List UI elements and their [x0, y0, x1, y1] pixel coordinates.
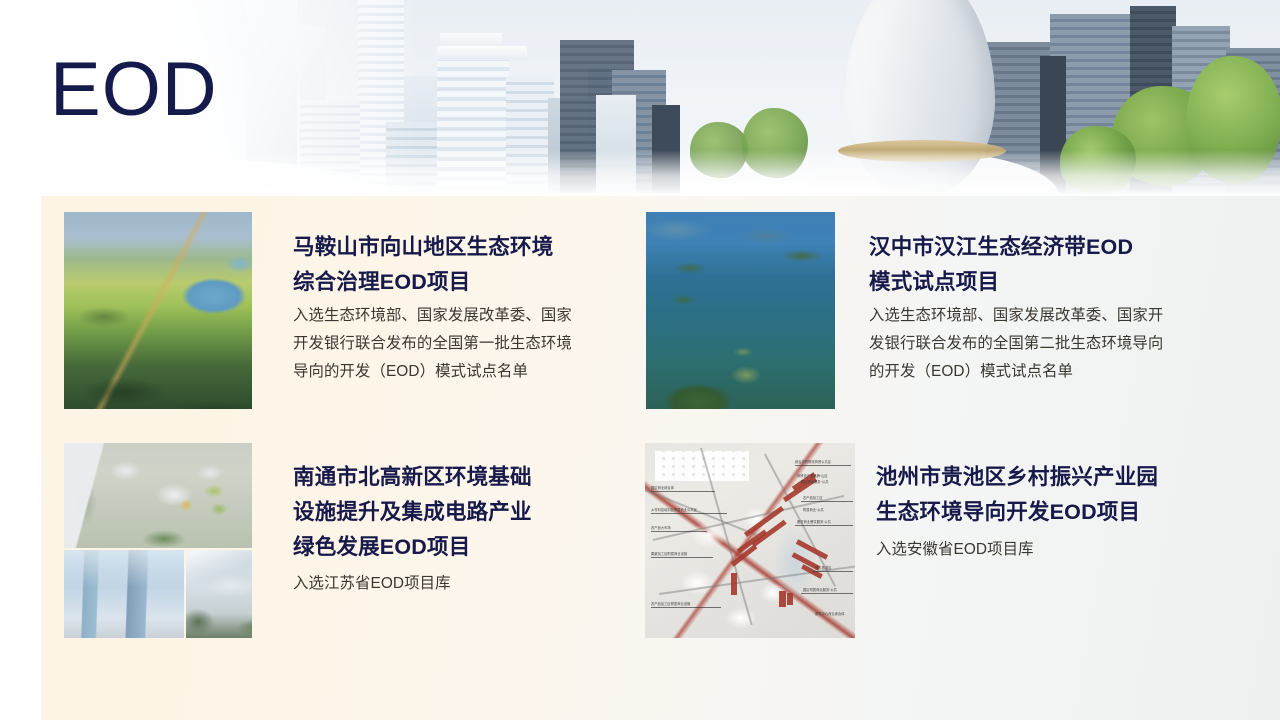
map-leader-line — [801, 501, 853, 502]
map-leader-line — [801, 593, 853, 594]
map-label: 服务商业餐饮服务·公共 — [797, 519, 831, 524]
page-title: EOD — [50, 52, 218, 128]
body-line: 入选生态环境部、国家发展改革委、国家 — [293, 302, 643, 330]
map-label: 综合农贸物流商贸公共区 — [795, 459, 831, 464]
card-text-hanzhong: 汉中市汉江生态经济带EOD 模式试点项目 入选生态环境部、国家发展改革委、国家开… — [869, 230, 1241, 386]
body-line: 入选安徽省EOD项目库 — [876, 536, 1242, 564]
card-heading: 南通市北高新区环境基础 设施提升及集成电路产业 绿色发展EOD项目 — [293, 460, 643, 564]
body-line: 入选生态环境部、国家发展改革委、国家开 — [869, 302, 1241, 330]
body-line: 导向的开发（EOD）模式试点名单 — [293, 358, 643, 386]
map-label: 附属商业·公共 — [803, 507, 824, 512]
heading-line: 南通市北高新区环境基础 — [293, 460, 643, 495]
map-label: 园区附属商业服务·公共 — [803, 587, 837, 592]
industrial-campus-aerial-photo — [64, 443, 252, 548]
card-heading: 汉中市汉江生态经济带EOD 模式试点项目 — [869, 230, 1241, 300]
heading-line: 生态环境导向开发EOD项目 — [876, 495, 1242, 530]
office-building-photo — [186, 550, 252, 638]
body-line: 入选江苏省EOD项目库 — [293, 570, 643, 598]
planning-zoning-map: 园区商业综合体 乡村科技培训区附属商业公共区 农产品大市场 果蔬加工区附属商业设… — [645, 443, 855, 638]
card-text-nantong: 南通市北高新区环境基础 设施提升及集成电路产业 绿色发展EOD项目 入选江苏省E… — [293, 460, 643, 599]
heading-line: 马鞍山市向山地区生态环境 — [293, 230, 643, 265]
body-line: 发银行联合发布的全国第二批生态环境导向 — [869, 330, 1241, 358]
map-built-cluster — [731, 573, 737, 595]
lake-islands-aerial-photo — [646, 212, 835, 409]
glass-towers-photo — [64, 550, 184, 638]
map-label: 乡村科技培训区附属商业公共区 — [651, 507, 697, 512]
map-label: 农产品加工区附属商业设施 — [651, 601, 690, 606]
map-leader-line — [651, 607, 721, 608]
card-body: 入选江苏省EOD项目库 — [293, 570, 643, 598]
card-body: 入选安徽省EOD项目库 — [876, 536, 1242, 564]
card-text-maanshan: 马鞍山市向山地区生态环境 综合治理EOD项目 入选生态环境部、国家发展改革委、国… — [293, 230, 643, 386]
map-label: 果蔬加工区附属商业设施 — [651, 551, 687, 556]
map-label: 农产品加工区 — [803, 495, 823, 500]
banner-bottom-fade — [0, 150, 1280, 196]
body-line: 的开发（EOD）模式试点名单 — [869, 358, 1241, 386]
map-label: 农产品大市场 — [651, 525, 671, 530]
card-heading: 马鞍山市向山地区生态环境 综合治理EOD项目 — [293, 230, 643, 300]
map-leader-line — [651, 531, 707, 532]
map-leader-line — [795, 465, 851, 466]
card-text-chizhou: 池州市贵池区乡村振兴产业园 生态环境导向开发EOD项目 入选安徽省EOD项目库 — [876, 460, 1242, 564]
card-heading: 池州市贵池区乡村振兴产业园 生态环境导向开发EOD项目 — [876, 460, 1242, 530]
map-leader-line — [651, 513, 727, 514]
map-leader-line — [795, 525, 853, 526]
heading-line: 池州市贵池区乡村振兴产业园 — [876, 460, 1242, 495]
map-label: 园区商业综合体 — [651, 485, 674, 490]
map-label: 园区商业服务·公共 — [801, 479, 828, 484]
map-built-cluster — [779, 591, 786, 607]
slide-root: EOD 马鞍山市向山地区生态环境 综合治理EOD项目 入选生态环境部、国家发展改… — [0, 0, 1280, 720]
map-label: 服务中心商业综合体 — [815, 611, 845, 616]
heading-line: 设施提升及集成电路产业 — [293, 495, 643, 530]
skyline-building — [437, 46, 527, 60]
map-leader-line — [813, 571, 853, 572]
map-leader-line — [651, 557, 713, 558]
map-label: 国心旅游区 — [815, 565, 831, 570]
heading-line: 模式试点项目 — [869, 265, 1241, 300]
heading-line: 综合治理EOD项目 — [293, 265, 643, 300]
heading-line: 绿色发展EOD项目 — [293, 530, 643, 565]
aerial-green-hills-photo — [64, 212, 252, 409]
heading-line: 汉中市汉江生态经济带EOD — [869, 230, 1241, 265]
map-leader-line — [651, 491, 715, 492]
body-line: 开发银行联合发布的全国第一批生态环境 — [293, 330, 643, 358]
map-label: 商贸农产品品牌·山区 — [797, 473, 828, 478]
card-body: 入选生态环境部、国家发展改革委、国家开 发银行联合发布的全国第二批生态环境导向 … — [869, 302, 1241, 386]
card-body: 入选生态环境部、国家发展改革委、国家 开发银行联合发布的全国第一批生态环境 导向… — [293, 302, 643, 386]
map-built-cluster — [787, 593, 793, 605]
